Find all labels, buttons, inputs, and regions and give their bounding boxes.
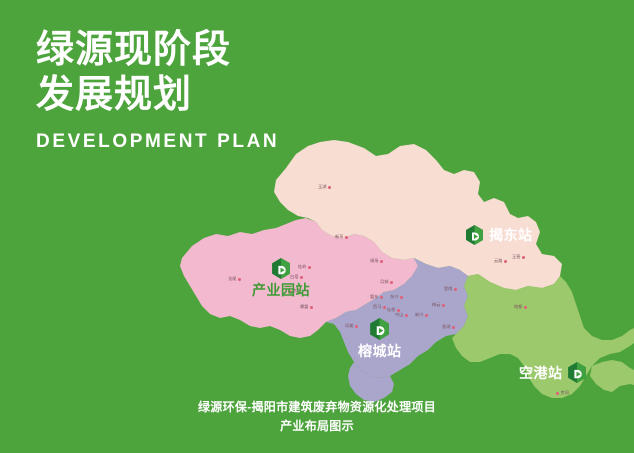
company-logo-icon (466, 225, 483, 245)
poster-root: 绿源现阶段 发展规划 DEVELOPMENT PLAN 玉湖 新亨 锡场 云路 … (0, 0, 634, 453)
station-label-jiedong: 揭东站 (489, 225, 533, 245)
page-subtitle: DEVELOPMENT PLAN (36, 131, 279, 153)
page-title-line-1: 绿源现阶段 (36, 28, 279, 73)
station-marker-chanyeyuan[interactable]: 产业园站 (252, 258, 310, 300)
company-logo-icon (272, 258, 290, 279)
caption-line-1: 绿源环保-揭阳市建筑废弃物资源化处理项目 (0, 398, 634, 417)
map-region-konggang-east[interactable] (590, 360, 634, 392)
company-logo-icon (370, 318, 389, 340)
station-marker-rongcheng[interactable]: 榕城站 (358, 318, 402, 361)
page-title-line-2: 发展规划 (36, 73, 279, 118)
company-logo-icon (568, 362, 586, 383)
station-marker-jiedong[interactable]: 揭东站 (466, 225, 533, 245)
station-label-rongcheng: 榕城站 (358, 341, 402, 361)
caption-block: 绿源环保-揭阳市建筑废弃物资源化处理项目 产业布局图示 (0, 398, 634, 436)
title-block: 绿源现阶段 发展规划 DEVELOPMENT PLAN (36, 28, 279, 153)
station-label-konggang: 空港站 (519, 363, 563, 383)
station-marker-konggang[interactable]: 空港站 (519, 362, 586, 383)
station-label-chanyeyuan: 产业园站 (252, 280, 310, 300)
caption-line-2: 产业布局图示 (0, 417, 634, 436)
